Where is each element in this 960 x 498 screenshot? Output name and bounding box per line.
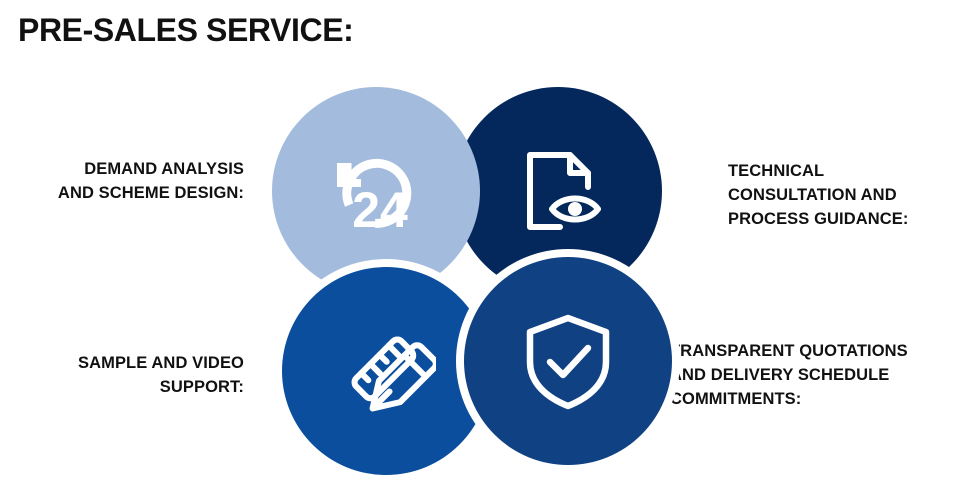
label-line: TRANSPARENT QUOTATIONS: [670, 340, 960, 364]
24-hour-rotate-icon: 24: [324, 143, 428, 239]
label-line: COMMITMENTS:: [670, 388, 960, 412]
label-line: SUPPORT:: [0, 376, 244, 400]
label-line: PROCESS GUIDANCE:: [728, 208, 960, 232]
label-sample-video: SAMPLE AND VIDEO SUPPORT:: [0, 352, 244, 400]
label-line: DEMAND ANALYSIS: [0, 158, 244, 182]
label-line: AND SCHEME DESIGN:: [0, 182, 244, 206]
shield-check-icon: [520, 310, 616, 412]
label-line: SAMPLE AND VIDEO: [0, 352, 244, 376]
label-transparent-quotations: TRANSPARENT QUOTATIONS AND DELIVERY SCHE…: [670, 340, 960, 412]
service-circle-cluster: 24: [268, 85, 668, 477]
label-technical-consultation: TECHNICAL CONSULTATION AND PROCESS GUIDA…: [728, 160, 960, 232]
page-title: PRE-SALES SERVICE:: [18, 12, 353, 49]
label-line: TECHNICAL: [728, 160, 960, 184]
document-eye-icon: [510, 143, 606, 239]
svg-text:24: 24: [352, 182, 408, 238]
circle-transparent-quotations[interactable]: [464, 257, 672, 465]
label-line: AND DELIVERY SCHEDULE: [670, 364, 960, 388]
label-line: CONSULTATION AND: [728, 184, 960, 208]
label-demand-analysis: DEMAND ANALYSIS AND SCHEME DESIGN:: [0, 158, 244, 206]
pen-ruler-icon: [336, 321, 436, 421]
